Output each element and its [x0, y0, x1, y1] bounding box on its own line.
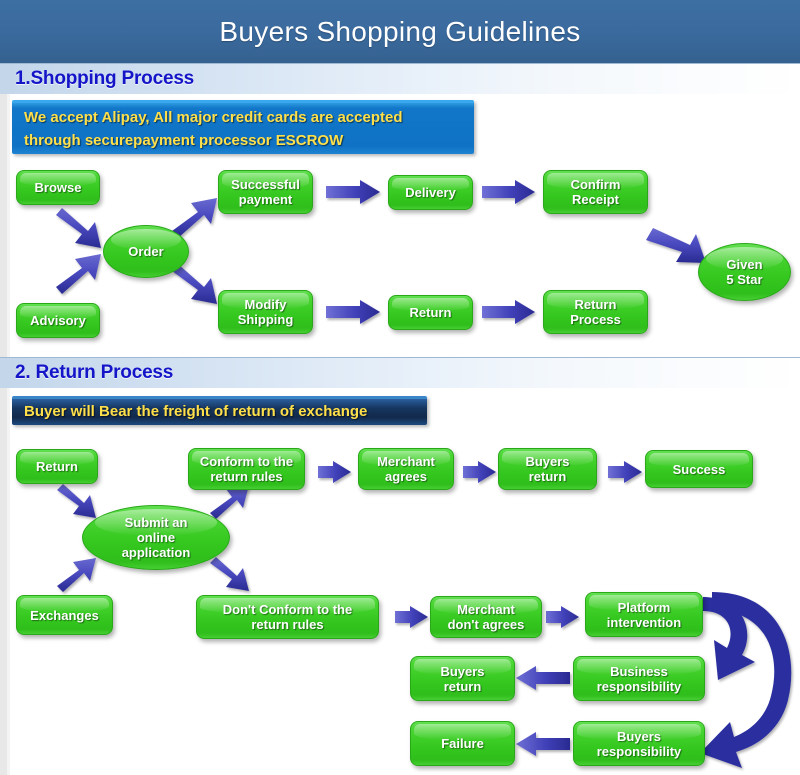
page-left-rail-inner — [7, 63, 10, 775]
arrow-modify-shipping-to-return — [326, 300, 380, 324]
arrow-merchant-dont-agrees-to-platform-intervention — [546, 606, 579, 628]
section-header-shopping-process: 1.Shopping Process — [0, 63, 800, 94]
payment-notice-banner: We accept Alipay, All major credit cards… — [12, 100, 474, 154]
node-label: Browse — [30, 180, 87, 195]
arrow-merchant-agrees-to-buyers-return — [463, 461, 496, 483]
arrow-buyers-responsibility-to-failure — [516, 732, 570, 756]
node-label: Order — [123, 244, 168, 259]
guidelines-page: Buyers Shopping Guidelines 1.Shopping Pr… — [0, 0, 800, 775]
node-label: Successfulpayment — [226, 177, 305, 207]
arrow-order-to-successful-payment — [172, 198, 217, 238]
node-label: Merchantdon't agrees — [443, 602, 530, 632]
node-label: Buyersresponsibility — [592, 729, 687, 759]
arrow-return-to-return-process — [482, 300, 535, 324]
node-return-2[interactable]: Return — [16, 449, 98, 484]
arrow-buyers-return-to-success — [608, 461, 642, 483]
node-label: Return — [405, 305, 457, 320]
arrow-confirm-receipt-to-given-5-star — [646, 228, 706, 263]
node-label: Advisory — [25, 313, 91, 328]
curved-arrow-platform-to-business-responsibility — [703, 597, 755, 680]
freight-notice-banner: Buyer will Bear the freight of return of… — [12, 396, 427, 425]
arrow-successful-payment-to-delivery — [326, 180, 380, 204]
arrow-business-responsibility-to-buyers-return — [516, 666, 570, 690]
arrow-browse-to-order — [56, 208, 101, 248]
node-label: Platformintervention — [602, 600, 686, 630]
arrow-submit-application-to-conform-rules — [210, 485, 249, 519]
curved-arrow-group — [700, 592, 791, 768]
node-confirm-receipt[interactable]: ConfirmReceipt — [543, 170, 648, 214]
banner-line-2: through securepayment processor ESCROW — [24, 129, 464, 152]
node-advisory[interactable]: Advisory — [16, 303, 100, 338]
node-buyers-return-mid[interactable]: Buyersreturn — [410, 656, 515, 701]
node-label: Don't Conform to thereturn rules — [218, 602, 357, 632]
node-success[interactable]: Success — [645, 450, 753, 488]
node-label: Exchanges — [25, 608, 104, 623]
section-title: 2. Return Process — [0, 362, 173, 384]
node-buyers-return-top[interactable]: Buyersreturn — [498, 448, 597, 490]
arrow-submit-application-to-dont-conform-rules — [210, 557, 249, 591]
node-business-responsibility[interactable]: Businessresponsibility — [573, 656, 705, 701]
node-buyers-responsibility[interactable]: Buyersresponsibility — [573, 721, 705, 766]
arrow-dont-conform-rules-to-merchant-dont-agrees — [395, 606, 428, 628]
node-label: Buyersreturn — [435, 664, 489, 694]
arrow-return-to-submit-application — [57, 484, 96, 518]
node-successful-payment[interactable]: Successfulpayment — [218, 170, 313, 214]
page-header-band: Buyers Shopping Guidelines — [0, 0, 800, 63]
node-delivery[interactable]: Delivery — [388, 175, 473, 210]
banner-line-1: We accept Alipay, All major credit cards… — [24, 106, 464, 129]
node-label: Failure — [436, 736, 489, 751]
arrow-delivery-to-confirm-receipt — [482, 180, 535, 204]
node-modify-shipping[interactable]: ModifyShipping — [218, 290, 313, 334]
section-header-return-process: 2. Return Process — [0, 357, 800, 388]
node-return[interactable]: Return — [388, 295, 473, 330]
node-label: Return — [31, 459, 83, 474]
node-exchanges[interactable]: Exchanges — [16, 595, 113, 635]
page-title: Buyers Shopping Guidelines — [219, 16, 580, 48]
node-label: Businessresponsibility — [592, 664, 687, 694]
section-title: 1.Shopping Process — [0, 68, 194, 90]
curved-arrow-platform-to-buyers-responsibility — [700, 592, 791, 768]
node-label: ConfirmReceipt — [566, 177, 626, 207]
node-label: Given5 Star — [721, 257, 767, 287]
arrow-conform-rules-to-merchant-agrees — [318, 461, 351, 483]
node-platform-intervention[interactable]: Platformintervention — [585, 592, 703, 637]
node-merchant-dont-agrees[interactable]: Merchantdon't agrees — [430, 596, 542, 638]
arrow-order-to-modify-shipping — [172, 264, 217, 304]
node-conform-to-return-rules[interactable]: Conform to thereturn rules — [188, 448, 305, 490]
node-failure[interactable]: Failure — [410, 721, 515, 766]
arrow-advisory-to-order — [56, 254, 101, 294]
node-label: Delivery — [400, 185, 461, 200]
banner-line-1: Buyer will Bear the freight of return of… — [24, 399, 417, 425]
node-label: Buyersreturn — [520, 454, 574, 484]
node-return-process[interactable]: ReturnProcess — [543, 290, 648, 334]
node-label: Conform to thereturn rules — [195, 454, 298, 484]
node-given-5-star[interactable]: Given5 Star — [698, 243, 791, 301]
node-label: Success — [668, 462, 731, 477]
node-label: Submit anonlineapplication — [117, 515, 196, 560]
node-browse[interactable]: Browse — [16, 170, 100, 205]
node-order[interactable]: Order — [103, 225, 189, 278]
node-merchant-agrees[interactable]: Merchantagrees — [358, 448, 454, 490]
node-label: ModifyShipping — [233, 297, 299, 327]
arrow-exchanges-to-submit-application — [57, 558, 96, 592]
page-left-rail — [0, 63, 7, 775]
node-label: ReturnProcess — [565, 297, 626, 327]
node-dont-conform-to-return-rules[interactable]: Don't Conform to thereturn rules — [196, 595, 379, 639]
node-submit-online-application[interactable]: Submit anonlineapplication — [82, 505, 230, 570]
node-label: Merchantagrees — [372, 454, 440, 484]
